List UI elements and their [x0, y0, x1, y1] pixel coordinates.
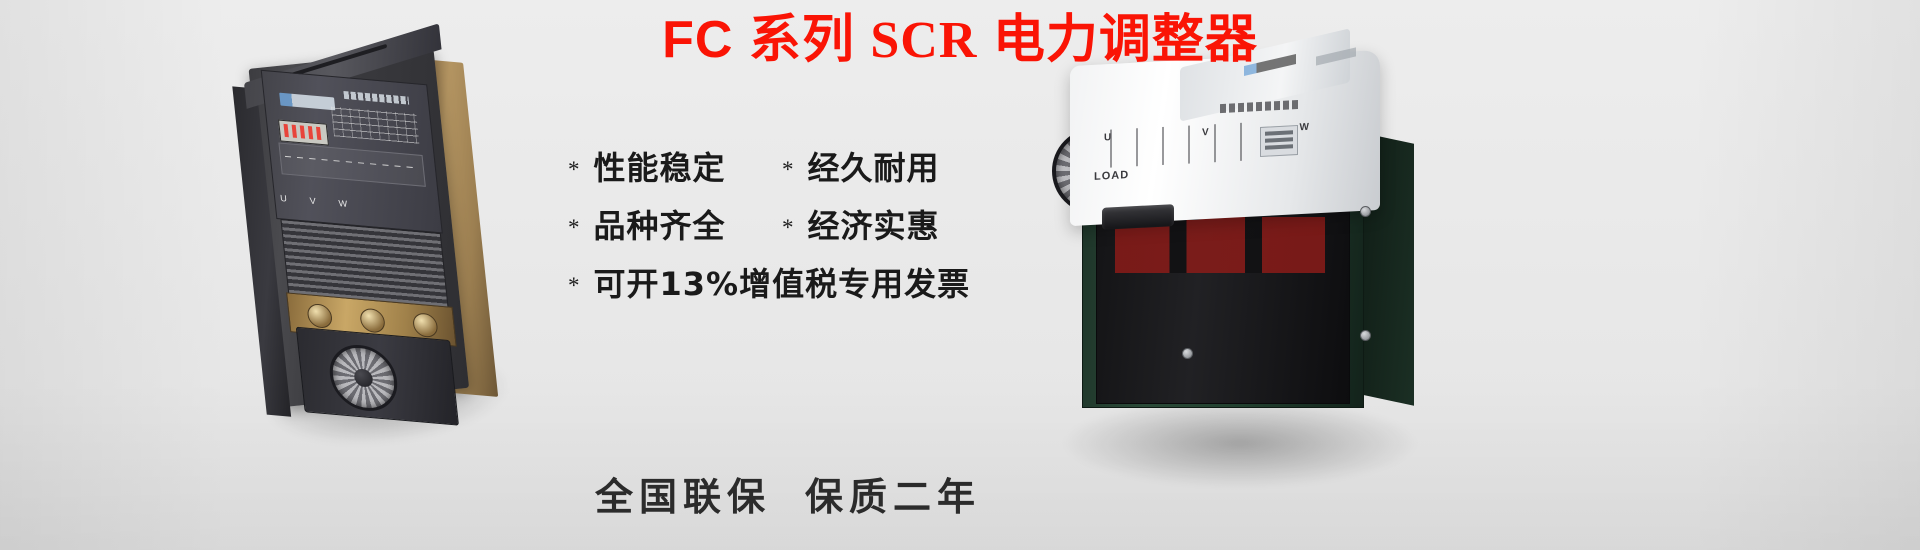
headline-part-scr: SCR [870, 12, 977, 69]
bullet-star-icon: * [782, 158, 794, 181]
left-product-cooling-fan [327, 342, 401, 413]
feature-item: * 经济实惠 [782, 201, 940, 247]
tax-prefix-label: 可开 [594, 259, 660, 305]
feature-label: 经济实惠 [808, 201, 940, 247]
right-product-screw-3 [1182, 348, 1193, 359]
right-product-screw-2 [1360, 330, 1371, 341]
feature-item: * 品种齐全 [568, 201, 782, 247]
slogan-part-warranty: 保质二年 [805, 474, 981, 519]
tax-percent-value: 13% [660, 265, 740, 303]
product-banner: U V W U V W LOAD F [0, 0, 1920, 550]
bullet-star-icon: * [568, 216, 580, 239]
right-product-screw-1 [1360, 206, 1371, 217]
feature-row: * 品种齐全 * 经济实惠 [568, 201, 998, 259]
feature-item: * 性能稳定 [568, 143, 782, 189]
product-image-left: U V W [212, 33, 552, 462]
left-vignette [0, 0, 230, 550]
left-product-fan-housing [296, 327, 459, 426]
tax-suffix-label: 增值税专用发票 [739, 259, 970, 305]
right-product-front-panel [1096, 206, 1350, 404]
feature-item: * 经久耐用 [782, 143, 940, 189]
feature-row-tax: * 可开 13% 增值税专用发票 [568, 259, 998, 317]
feature-list: * 性能稳定 * 经久耐用 * 品种齐全 * 经济实惠 * 可开 13% [568, 143, 998, 317]
headline-part-xilie: 系列 [749, 10, 855, 70]
product-image-right: U V W LOAD [1030, 30, 1460, 480]
feature-row: * 性能稳定 * 经久耐用 [568, 143, 998, 201]
headline-part-product: 电力调整器 [993, 10, 1258, 70]
bullet-star-icon: * [568, 158, 580, 181]
feature-label: 品种齐全 [594, 201, 726, 247]
banner-headline: FC 系列 SCR 电力调整器 [0, 8, 1920, 73]
headline-part-fc: FC [662, 11, 733, 69]
right-product-shadow [1060, 398, 1420, 488]
warranty-slogan: 全国联保保质二年 [568, 466, 1008, 521]
feature-label: 性能稳定 [594, 143, 726, 189]
bullet-star-icon: * [782, 216, 794, 239]
left-product-dip-switches [278, 120, 329, 146]
feature-item-tax: * 可开 13% 增值税专用发票 [568, 259, 970, 305]
right-product-load-label: LOAD [1094, 169, 1129, 183]
right-product-indicator-block [1260, 125, 1298, 157]
feature-label: 经久耐用 [808, 143, 940, 189]
bullet-star-icon: * [568, 274, 580, 297]
right-product-handle [1102, 204, 1174, 230]
right-vignette [1690, 0, 1920, 550]
slogan-part-nationwide: 全国联保 [595, 474, 771, 519]
